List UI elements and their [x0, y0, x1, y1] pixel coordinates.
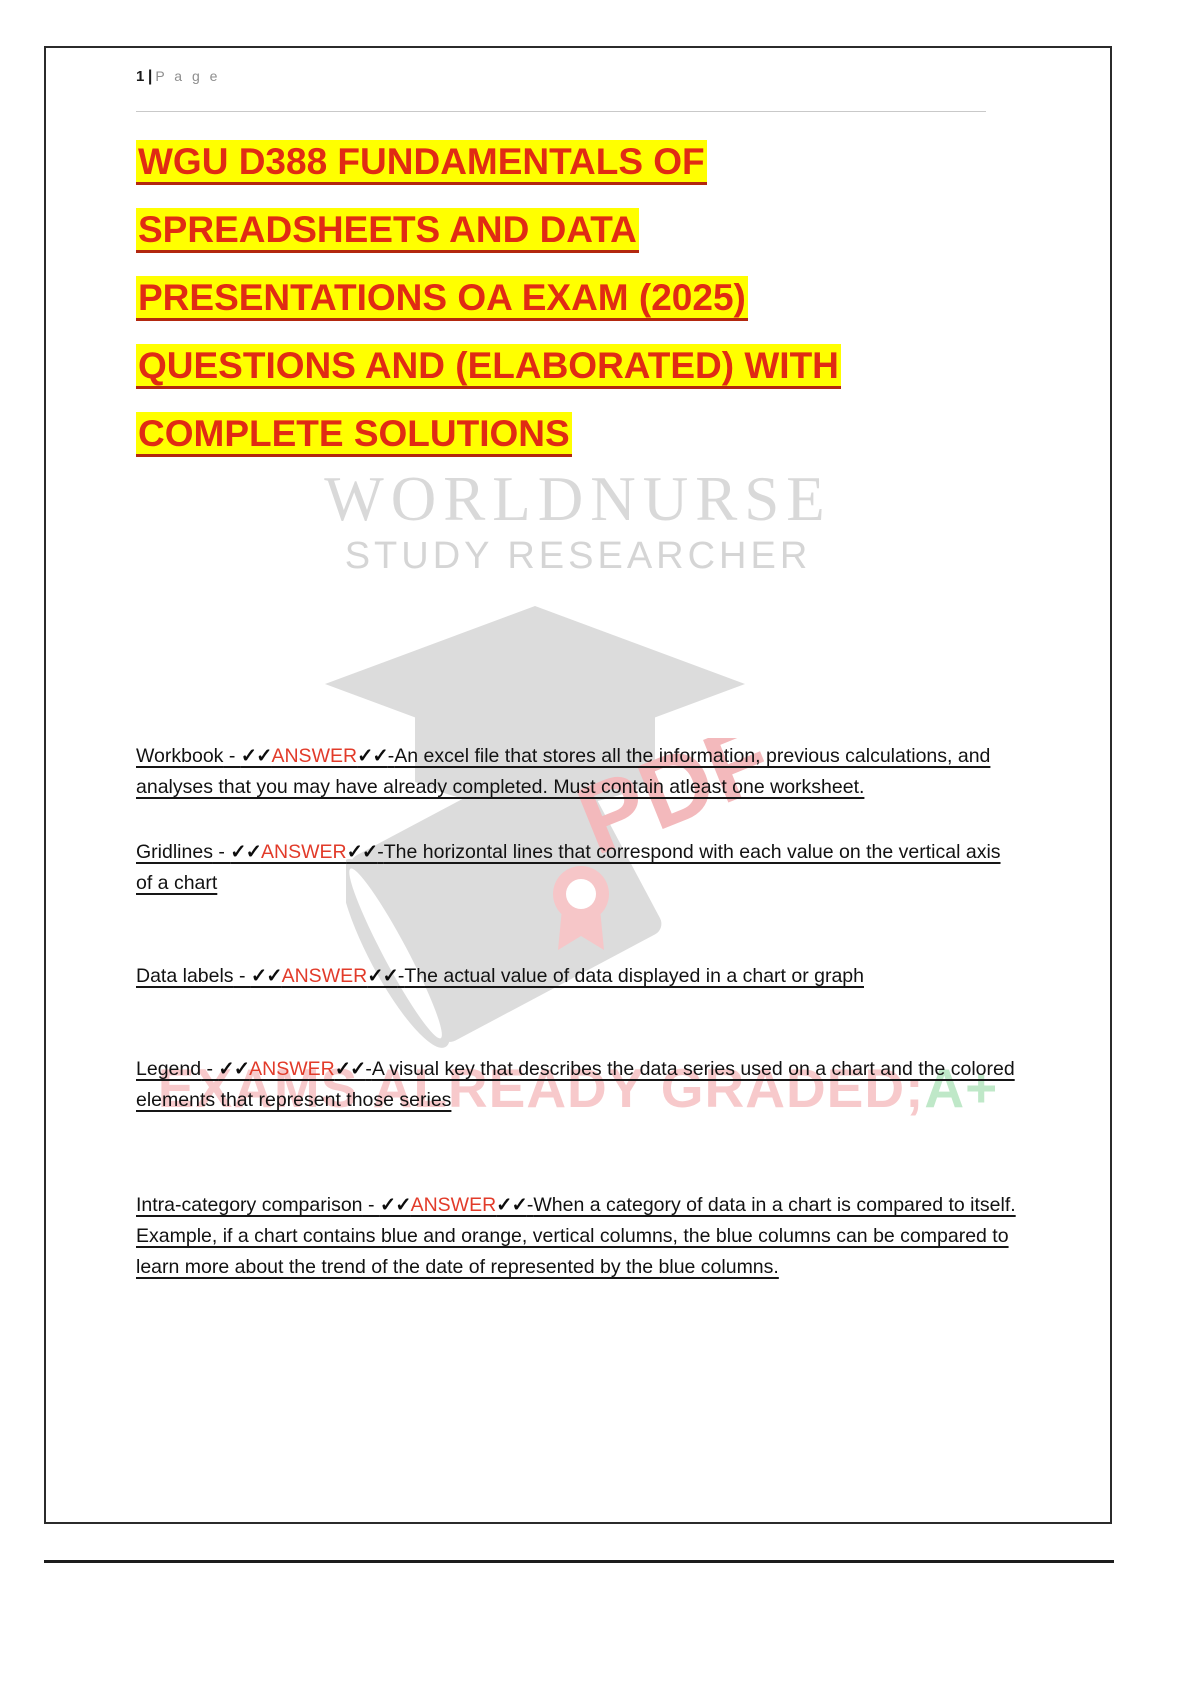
title-line-2: SPREADSHEETS AND DATA: [136, 196, 1016, 264]
qa-check-left-2: ✓✓: [251, 965, 282, 987]
qa-check-right-1: ✓✓: [347, 841, 378, 863]
header-separator: |: [148, 68, 152, 85]
qa-check-right-2: ✓✓: [367, 965, 398, 987]
qa-check-left-1: ✓✓: [230, 841, 261, 863]
header-page-word: P a g e: [155, 68, 220, 84]
title-line-4: QUESTIONS AND (ELABORATED) WITH: [136, 332, 1016, 400]
qa-item-data-labels: Data labels - ✓✓ANSWER✓✓-The actual valu…: [136, 961, 1016, 992]
qa-check-right-3: ✓✓: [335, 1058, 366, 1080]
qa-item-intra-category-comparison: Intra-category comparison - ✓✓ANSWER✓✓-W…: [136, 1190, 1016, 1283]
qa-term-1: Gridlines: [136, 841, 213, 863]
qa-dash-3: -: [201, 1058, 218, 1080]
qa-check-right-0: ✓✓: [357, 745, 388, 767]
qa-term-2: Data labels: [136, 965, 234, 987]
page-header: 1|P a g e: [136, 68, 986, 112]
qa-dash-0: -: [223, 745, 240, 767]
page-viewport: WORLDNURSE STUDY RESEARCHER: [0, 0, 1200, 1700]
title-line-2-text: SPREADSHEETS AND DATA: [136, 208, 639, 253]
qa-term-4: Intra-category comparison: [136, 1194, 363, 1216]
title-line-5-text: COMPLETE SOLUTIONS: [136, 412, 572, 457]
header-page-number: 1: [136, 68, 145, 85]
qa-term-3: Legend: [136, 1058, 201, 1080]
title-line-3-text: PRESENTATIONS OA EXAM (2025): [136, 276, 748, 321]
watermark-brand-worldnurse: WORLDNURSE: [46, 463, 1110, 536]
title-line-1: WGU D388 FUNDAMENTALS OF: [136, 128, 1016, 196]
qa-dash-4: -: [363, 1194, 380, 1216]
qa-answer-marker-2: ANSWER: [282, 965, 368, 987]
qa-check-left-3: ✓✓: [218, 1058, 249, 1080]
qa-check-left-0: ✓✓: [241, 745, 272, 767]
page-bottom-divider: [44, 1560, 1114, 1563]
qa-content: Workbook - ✓✓ANSWER✓✓-An excel file that…: [136, 741, 1016, 1317]
qa-dash-1: -: [213, 841, 230, 863]
qa-dash-2: -: [234, 965, 251, 987]
qa-check-right-4: ✓✓: [496, 1194, 527, 1216]
qa-answer-marker-0: ANSWER: [271, 745, 357, 767]
qa-answer-marker-4: ANSWER: [411, 1194, 497, 1216]
qa-term-0: Workbook: [136, 745, 223, 767]
title-line-3: PRESENTATIONS OA EXAM (2025): [136, 264, 1016, 332]
title-line-5: COMPLETE SOLUTIONS: [136, 400, 1016, 468]
qa-answer-marker-3: ANSWER: [249, 1058, 335, 1080]
qa-check-left-4: ✓✓: [380, 1194, 411, 1216]
qa-definition-2: The actual value of data displayed in a …: [404, 965, 864, 987]
page-title: WGU D388 FUNDAMENTALS OF SPREADSHEETS AN…: [136, 128, 1016, 468]
qa-item-workbook: Workbook - ✓✓ANSWER✓✓-An excel file that…: [136, 741, 1016, 803]
qa-item-gridlines: Gridlines - ✓✓ANSWER✓✓-The horizontal li…: [136, 837, 1016, 899]
document-page: WORLDNURSE STUDY RESEARCHER: [44, 46, 1112, 1524]
title-line-4-text: QUESTIONS AND (ELABORATED) WITH: [136, 344, 841, 389]
title-line-1-text: WGU D388 FUNDAMENTALS OF: [136, 140, 707, 185]
qa-item-legend: Legend - ✓✓ANSWER✓✓-A visual key that de…: [136, 1054, 1016, 1116]
qa-answer-marker-1: ANSWER: [261, 841, 347, 863]
watermark-brand-subtitle: STUDY RESEARCHER: [46, 535, 1110, 578]
